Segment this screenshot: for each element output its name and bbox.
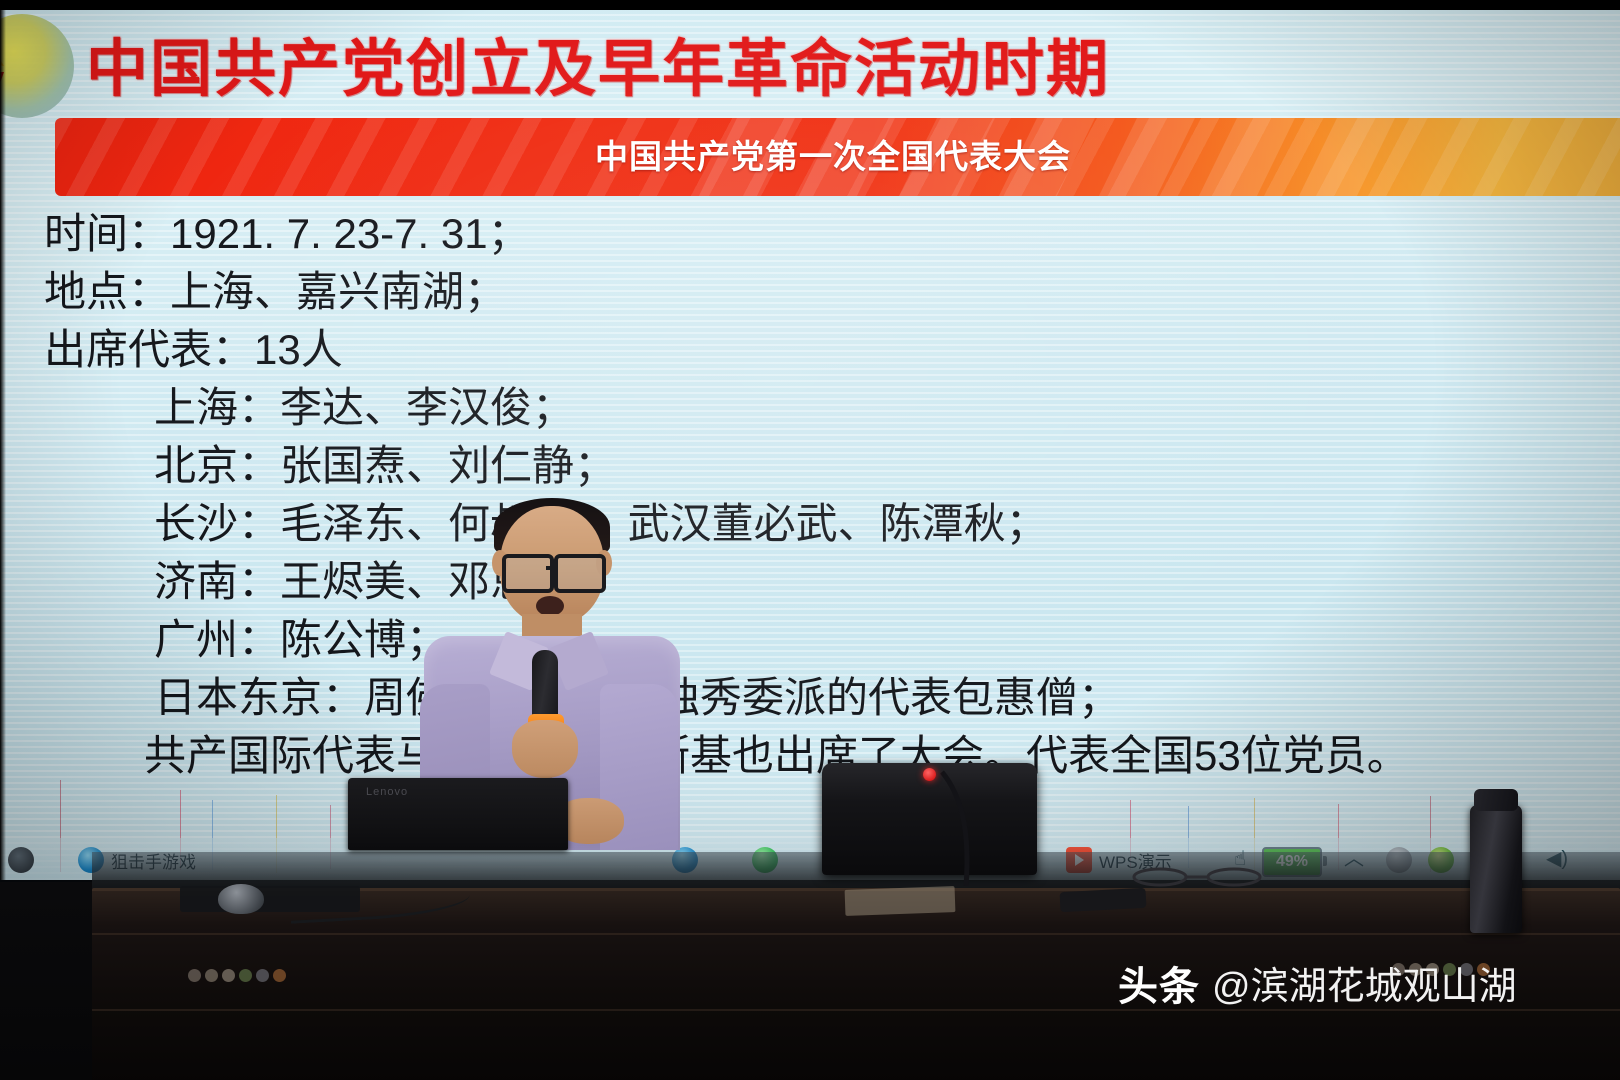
slide-line-shanghai: 上海：李达、李汉俊； <box>44 379 1584 437</box>
presenter-hand-holding-mic <box>512 720 578 778</box>
screenshot-stage: 中国共产党创立及早年革命活动时期 中国共产党第一次全国代表大会 时间：1921.… <box>0 0 1620 1080</box>
frame-top-edge <box>0 0 1620 10</box>
slide-line-delegates: 出席代表：13人 <box>44 321 1584 379</box>
slide-line-tokyo: 日本东京：周佛海，还有陈独秀委派的代表包惠僧； <box>44 669 1584 727</box>
frame-left-edge <box>0 0 6 880</box>
slide-line-jinan: 济南：王烬美、邓恩铭； <box>44 553 1584 611</box>
slide-line-time: 时间：1921. 7. 23-7. 31； <box>44 205 1584 263</box>
slide-line-comintern: 共产国际代表马林和尼克尔斯基也出席了大会。代表全国53位党员。 <box>44 727 1584 785</box>
slide-body: 时间：1921. 7. 23-7. 31； 地点：上海、嘉兴南湖； 出席代表：1… <box>44 205 1584 785</box>
thermos-bottle <box>1470 805 1522 933</box>
slide-line-beijing: 北京：张国焘、刘仁静； <box>44 437 1584 495</box>
laptop[interactable]: Lenovo <box>348 778 568 850</box>
slide-line-guangzhou: 广州：陈公博； <box>44 611 1584 669</box>
glasses-bridge <box>546 566 556 570</box>
slide-line-place: 地点：上海、嘉兴南湖； <box>44 263 1584 321</box>
paper-sheet <box>845 886 956 916</box>
laptop-brand-label: Lenovo <box>366 786 408 798</box>
eyeglasses-on-desk <box>1130 866 1270 888</box>
hammer-sickle-glyph <box>0 22 54 118</box>
slide-line-changsha: 长沙：毛泽东、何叔衡； 武汉董必武、陈潭秋； <box>44 495 1584 553</box>
glasses-lens-left <box>502 554 554 593</box>
watermark: 头条 @滨湖花城观山湖 <box>1118 958 1517 1016</box>
watermark-brand: 头条 <box>1118 963 1200 1011</box>
microphone-led-indicator <box>923 768 936 781</box>
slide-banner: 中国共产党第一次全国代表大会 <box>55 118 1620 196</box>
presenter-mouth <box>536 596 564 616</box>
watermark-handle: @滨湖花城观山湖 <box>1212 963 1517 1011</box>
slide-banner-subtitle: 中国共产党第一次全国代表大会 <box>595 118 1071 196</box>
slide-title: 中国共产党创立及早年革命活动时期 <box>86 28 1266 112</box>
bottle-cap <box>1474 789 1518 811</box>
projected-slide: 中国共产党创立及早年革命活动时期 中国共产党第一次全国代表大会 时间：1921.… <box>0 0 1620 880</box>
computer-mouse[interactable] <box>218 884 264 914</box>
glasses-lens-right <box>554 554 606 593</box>
gooseneck-microphone <box>940 770 980 888</box>
podium-desk-left <box>92 888 912 1080</box>
desk-indicator-dots-left <box>188 969 286 982</box>
